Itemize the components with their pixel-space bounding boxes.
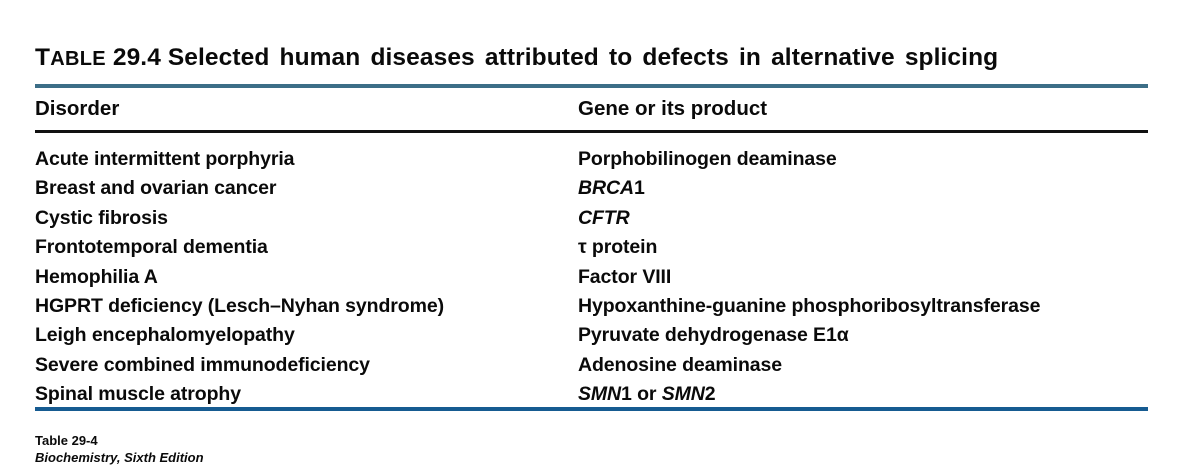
table-title-label: TABLE xyxy=(35,48,106,70)
table-figure: TABLE 29.4 Selected human diseases attri… xyxy=(0,0,1184,470)
table-cell-gene: Porphobilinogen deaminase xyxy=(578,145,1178,174)
table-cell-disorder: Leigh encephalomyelopathy xyxy=(35,321,575,350)
table-title-number: 29.4 xyxy=(113,44,161,71)
table-cell-gene: SMN1 or SMN2 xyxy=(578,380,1178,409)
figure-caption: Table 29-4 Biochemistry, Sixth Edition xyxy=(35,432,204,466)
table-cell-gene: Adenosine deaminase xyxy=(578,351,1178,380)
table-title-text: Selected human diseases attributed to de… xyxy=(168,44,998,71)
table-cell-gene: τ protein xyxy=(578,233,1178,262)
table-cell-disorder: Spinal muscle atrophy xyxy=(35,380,575,409)
table-title: TABLE 29.4 Selected human diseases attri… xyxy=(35,44,1150,72)
table-cell-gene: Factor VIII xyxy=(578,263,1178,292)
rule-top-accent xyxy=(35,84,1148,88)
table-cell-disorder: HGPRT deficiency (Lesch–Nyhan syndrome) xyxy=(35,292,575,321)
caption-source-title: Biochemistry, Sixth Edition xyxy=(35,449,204,466)
table-title-label-rest: ABLE xyxy=(50,48,106,70)
rule-header-separator xyxy=(35,130,1148,133)
caption-table-number: Table 29-4 xyxy=(35,432,204,449)
table-cell-gene: BRCA1 xyxy=(578,174,1178,203)
column-header-disorder: Disorder xyxy=(35,98,119,121)
table-cell-disorder: Severe combined immunodeficiency xyxy=(35,351,575,380)
table-body-column-gene: Porphobilinogen deaminaseBRCA1CFTRτ prot… xyxy=(578,145,1178,410)
table-cell-disorder: Frontotemporal dementia xyxy=(35,233,575,262)
table-cell-disorder: Cystic fibrosis xyxy=(35,204,575,233)
table-body-column-disorder: Acute intermittent porphyriaBreast and o… xyxy=(35,145,575,410)
table-cell-gene: CFTR xyxy=(578,204,1178,233)
table-cell-disorder: Breast and ovarian cancer xyxy=(35,174,575,203)
column-header-gene: Gene or its product xyxy=(578,98,767,121)
rule-bottom-accent xyxy=(35,407,1148,411)
table-cell-gene: Pyruvate dehydrogenase E1α xyxy=(578,321,1178,350)
table-cell-disorder: Acute intermittent porphyria xyxy=(35,145,575,174)
table-cell-gene: Hypoxanthine-guanine phosphoribosyltrans… xyxy=(578,292,1178,321)
table-cell-disorder: Hemophilia A xyxy=(35,263,575,292)
